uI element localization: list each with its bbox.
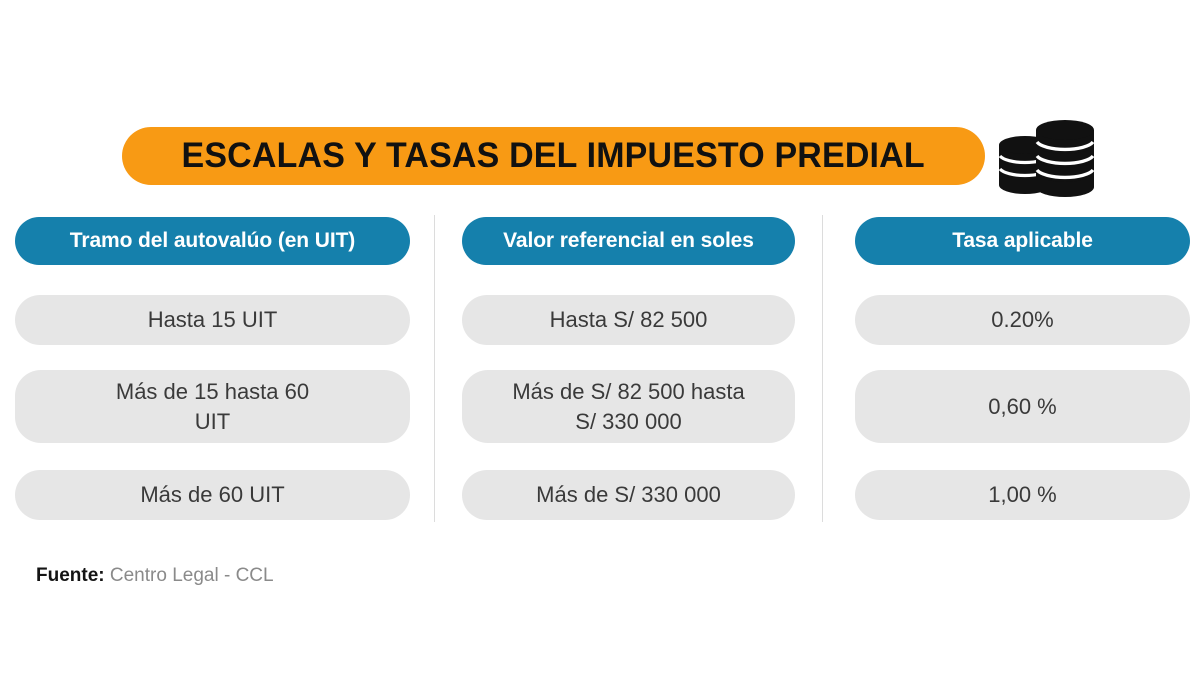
cell-text: Más de 60 UIT (140, 480, 284, 510)
table-cell: Más de 60 UIT (15, 470, 410, 520)
column-header-tasa: Tasa aplicable (855, 217, 1190, 265)
page-title: ESCALAS Y TASAS DEL IMPUESTO PREDIAL (182, 136, 925, 176)
table-cell: 0.20% (855, 295, 1190, 345)
source-footer: Fuente: Centro Legal - CCL (36, 565, 274, 587)
title-row: ESCALAS Y TASAS DEL IMPUESTO PREDIAL (122, 127, 1092, 187)
cell-text: 0.20% (991, 305, 1053, 335)
table-cell: 1,00 % (855, 470, 1190, 520)
cell-text: Más de S/ 82 500 hasta S/ 330 000 (512, 377, 744, 437)
infographic-root: ESCALAS Y TASAS DEL IMPUESTO PREDIAL (0, 0, 1200, 675)
column-header-tramo: Tramo del autovalúo (en UIT) (15, 217, 410, 265)
cell-text: Más de S/ 330 000 (536, 480, 721, 510)
cell-text: Hasta 15 UIT (148, 305, 278, 335)
table-cell: Más de 15 hasta 60 UIT (15, 370, 410, 443)
table-cell: 0,60 % (855, 370, 1190, 443)
cell-text: 1,00 % (988, 480, 1057, 510)
column-divider-1 (434, 215, 435, 522)
column-divider-2 (822, 215, 823, 522)
cell-text: Más de 15 hasta 60 UIT (116, 377, 309, 437)
column-header-valor-referencial: Valor referencial en soles (462, 217, 795, 265)
table-column-tasa: Tasa aplicable 0.20% 0,60 % 1,00 % (855, 217, 1190, 520)
source-name: Centro Legal - CCL (105, 565, 274, 586)
column-header-label: Tasa aplicable (952, 229, 1093, 253)
column-header-label: Valor referencial en soles (503, 229, 754, 253)
cell-text: Hasta S/ 82 500 (550, 305, 708, 335)
title-banner: ESCALAS Y TASAS DEL IMPUESTO PREDIAL (122, 127, 985, 185)
table-column-valor-referencial: Valor referencial en soles Hasta S/ 82 5… (462, 217, 795, 520)
source-label: Fuente: (36, 565, 105, 586)
table-cell: Hasta S/ 82 500 (462, 295, 795, 345)
table-column-tramo: Tramo del autovalúo (en UIT) Hasta 15 UI… (15, 217, 410, 520)
column-header-label: Tramo del autovalúo (en UIT) (70, 229, 355, 253)
table-cell: Hasta 15 UIT (15, 295, 410, 345)
table-cell: Más de S/ 82 500 hasta S/ 330 000 (462, 370, 795, 443)
cell-text: 0,60 % (988, 392, 1057, 422)
table-cell: Más de S/ 330 000 (462, 470, 795, 520)
coin-stack-icon (995, 113, 1095, 199)
